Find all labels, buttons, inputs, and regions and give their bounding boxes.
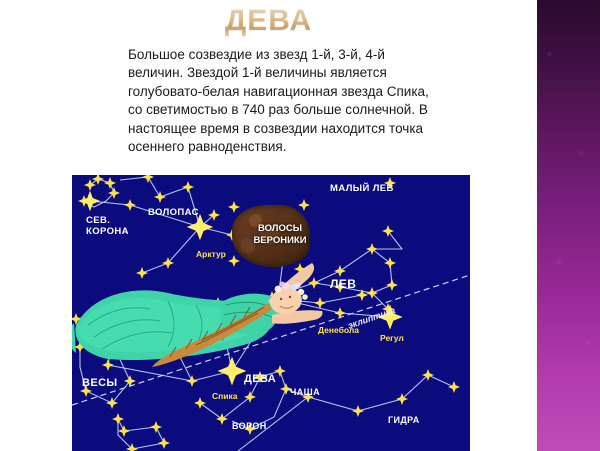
constellation-label-deva: ДЕВА: [244, 373, 276, 385]
constellation-label-malyi-lev: МАЛЫЙ ЛЕВ: [330, 183, 394, 194]
slide-root: ДЕВА Большое созвездие из звезд 1-й, 3-й…: [0, 0, 600, 451]
star-map-image: ВОЛОСЫ ВЕРОНИКИ СЕВ. КОРОНА ВОЛОПАС МАЛЫ…: [72, 175, 470, 451]
decorative-side-bar: [537, 0, 600, 451]
constellation-label-vesy: ВЕСЫ: [82, 377, 118, 389]
star-label-arktur: Арктур: [196, 249, 226, 259]
constellation-label-lev: ЛЕВ: [330, 277, 356, 291]
constellation-label-volosy-veroniki: ВОЛОСЫ ВЕРОНИКИ: [240, 223, 320, 247]
constellation-label-volopas: ВОЛОПАС: [148, 207, 199, 218]
page-title: ДЕВА: [0, 4, 537, 38]
constellation-label-gidra: ГИДРА: [388, 415, 420, 425]
constellation-label-chasha: ЧАША: [290, 387, 320, 397]
star-label-spika: Спика: [212, 391, 237, 401]
coma-label-line2: ВЕРОНИКИ: [253, 235, 306, 246]
star-alphecca: [80, 191, 100, 211]
constellation-label-voron: ВОРОН: [232, 421, 267, 431]
virgo-maiden-figure: [72, 263, 323, 367]
coma-label-line1: ВОЛОСЫ: [258, 223, 302, 234]
constellation-label-sev-korona: СЕВ. КОРОНА: [86, 215, 129, 237]
body-paragraph: Большое созвездие из звезд 1-й, 3-й, 4-й…: [128, 46, 443, 156]
star-label-regul: Регул: [380, 333, 404, 343]
star-spica: [218, 357, 247, 386]
